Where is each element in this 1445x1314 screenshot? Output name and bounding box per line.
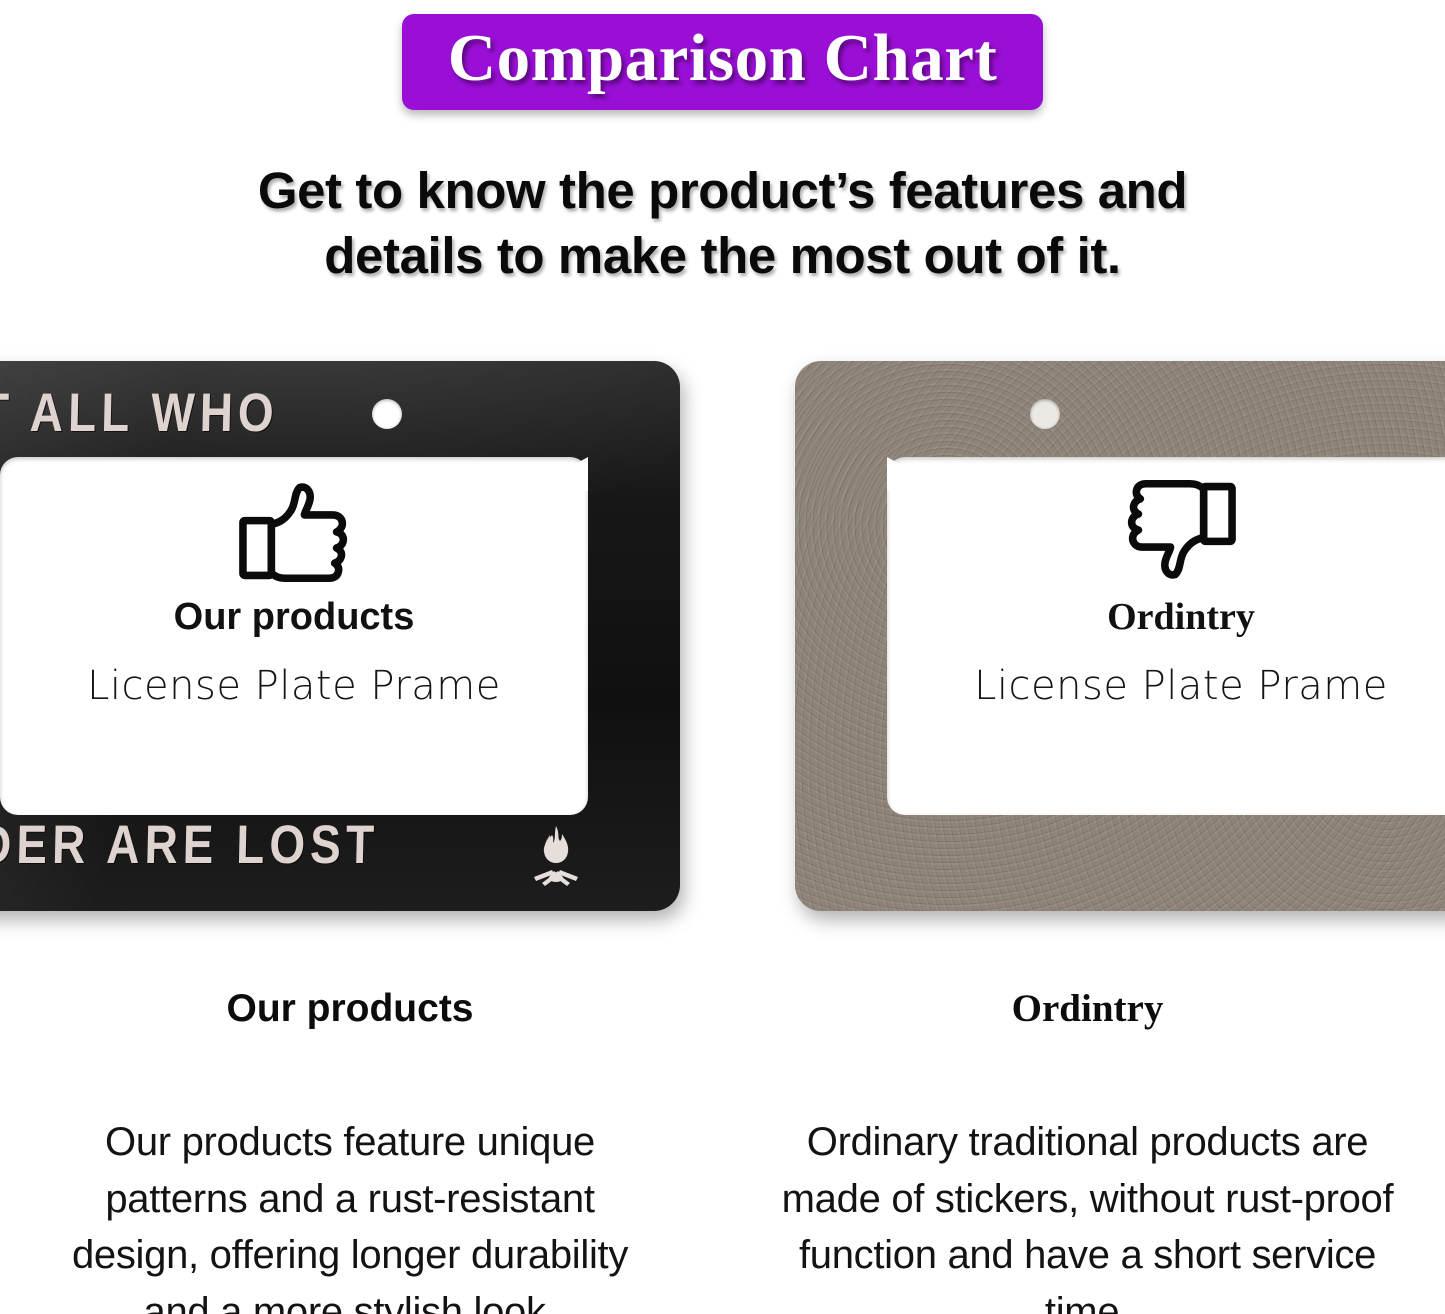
subtitle-line-1: Get to know the product’s features and bbox=[0, 158, 1445, 223]
comparison-frames-row: OT ALL WHO NDER ARE LOST bbox=[0, 355, 1445, 925]
subtitle-line-2: details to make the most out of it. bbox=[0, 223, 1445, 288]
ordinary-product-description-column: Ordintry Ordinary traditional products a… bbox=[730, 985, 1445, 1314]
ordinary-product-heading: Ordintry bbox=[730, 985, 1445, 1034]
our-product-plate-frame: OT ALL WHO NDER ARE LOST bbox=[0, 361, 680, 911]
our-product-description: Our products feature unique patterns and… bbox=[0, 1114, 700, 1314]
our-product-heading: Our products bbox=[0, 985, 700, 1034]
ordinary-product-window-title: Ordintry bbox=[887, 595, 1445, 641]
campfire-icon bbox=[528, 825, 584, 887]
title-banner: Comparison Chart bbox=[402, 14, 1044, 110]
frame-slogan-bottom: NDER ARE LOST bbox=[0, 812, 380, 876]
mounting-hole bbox=[372, 399, 402, 429]
ordinary-product-window-subtitle: License Plate Prame bbox=[887, 663, 1445, 709]
ordinary-product-plate-frame: Ordintry License Plate Prame bbox=[795, 361, 1445, 911]
our-product-window-content: Our products License Plate Prame bbox=[0, 479, 588, 709]
frame-slogan-top: OT ALL WHO bbox=[0, 380, 279, 444]
thumbs-up-icon bbox=[234, 479, 354, 583]
our-product-window-title: Our products bbox=[0, 595, 588, 641]
thumbs-down-icon bbox=[1121, 479, 1241, 583]
mounting-hole bbox=[1030, 399, 1060, 429]
our-product-window-subtitle: License Plate Prame bbox=[0, 663, 588, 709]
our-product-description-column: Our products Our products feature unique… bbox=[0, 985, 700, 1314]
ordinary-product-window-content: Ordintry License Plate Prame bbox=[887, 479, 1445, 709]
title-banner-container: Comparison Chart bbox=[0, 14, 1445, 110]
page-title: Comparison Chart bbox=[448, 24, 998, 94]
ordinary-product-description: Ordinary traditional products are made o… bbox=[730, 1114, 1445, 1314]
page-subtitle: Get to know the product’s features and d… bbox=[0, 158, 1445, 289]
